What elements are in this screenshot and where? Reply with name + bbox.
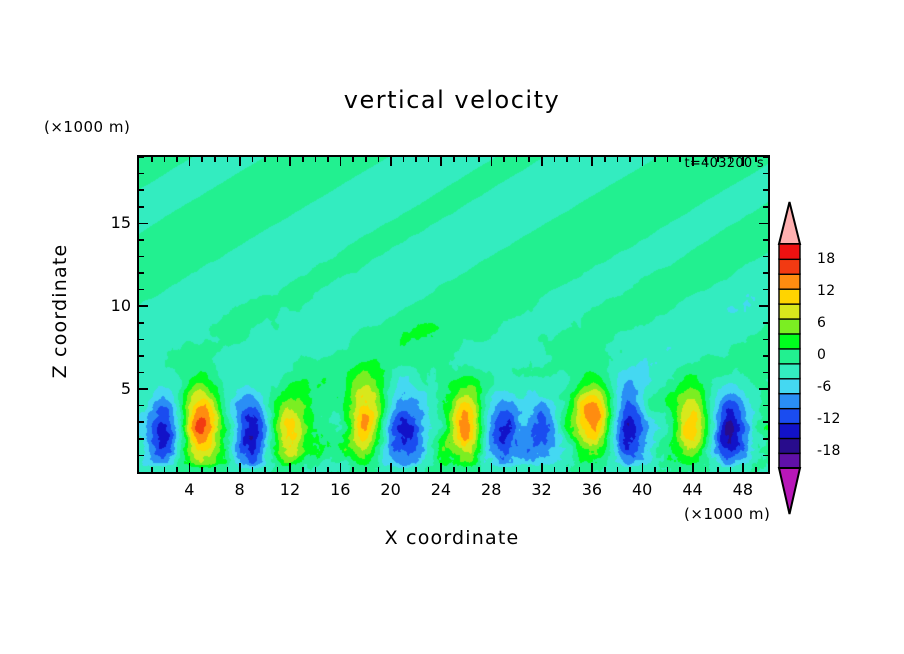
axis-tick [415, 467, 417, 472]
axis-tick [554, 157, 556, 162]
x-tick-label: 24 [421, 480, 461, 499]
axis-tick [667, 467, 669, 472]
axis-tick [541, 157, 543, 166]
axis-tick [315, 157, 317, 162]
x-tick-label: 20 [371, 480, 411, 499]
axis-tick [139, 189, 144, 191]
axis-tick [679, 157, 681, 162]
axis-tick [139, 206, 144, 208]
axis-tick [453, 467, 455, 472]
y-axis-title: Z coordinate [49, 211, 71, 411]
colorbar-tick-label: 18 [817, 251, 835, 267]
axis-tick [289, 157, 291, 166]
axis-tick [717, 467, 719, 472]
axis-tick [315, 467, 317, 472]
axis-tick [264, 157, 266, 162]
axis-tick [692, 463, 694, 472]
axis-tick [763, 372, 768, 374]
axis-tick [763, 405, 768, 407]
axis-tick [579, 157, 581, 162]
x-tick-label: 32 [522, 480, 562, 499]
axis-tick [730, 467, 732, 472]
axis-tick [139, 339, 144, 341]
axis-tick [352, 467, 354, 472]
axis-tick [491, 157, 493, 166]
axis-tick [378, 467, 380, 472]
axis-tick [302, 467, 304, 472]
axis-tick [201, 467, 203, 472]
axis-tick [763, 438, 768, 440]
axis-tick [604, 467, 606, 472]
axis-tick [164, 467, 166, 472]
axis-tick [705, 467, 707, 472]
x-tick-label: 28 [471, 480, 511, 499]
axis-tick [759, 223, 768, 225]
axis-tick [365, 157, 367, 162]
axis-tick [759, 305, 768, 307]
axis-tick [227, 157, 229, 162]
axis-tick [264, 467, 266, 472]
axis-tick [139, 421, 144, 423]
axis-tick [629, 467, 631, 472]
axis-tick [415, 157, 417, 162]
axis-tick [227, 467, 229, 472]
colorbar-tick-label: -18 [817, 443, 841, 459]
axis-tick [566, 467, 568, 472]
axis-tick [139, 355, 144, 357]
colorbar-tick-label: 12 [817, 283, 835, 299]
axis-tick [591, 463, 593, 472]
axis-tick [139, 372, 144, 374]
axis-tick [466, 467, 468, 472]
axis-tick [591, 157, 593, 166]
colorbar-tick-label: -12 [817, 411, 841, 427]
axis-tick [277, 157, 279, 162]
time-annotation: t=403200 s [684, 156, 764, 171]
axis-tick [139, 256, 144, 258]
axis-tick [491, 463, 493, 472]
axis-tick [139, 272, 144, 274]
x-tick-label: 12 [270, 480, 310, 499]
colorbar-swatches [775, 196, 815, 526]
axis-tick [763, 322, 768, 324]
axis-tick [679, 467, 681, 472]
axis-tick [164, 157, 166, 162]
axis-tick [139, 173, 144, 175]
axis-tick [139, 438, 144, 440]
axis-tick [390, 463, 392, 472]
axis-tick [503, 467, 505, 472]
axis-tick [566, 157, 568, 162]
axis-tick [654, 157, 656, 162]
contour-plot-area[interactable]: t=403200 s [137, 155, 770, 474]
axis-tick [340, 157, 342, 166]
x-axis-title: X coordinate [0, 527, 904, 549]
axis-tick [390, 157, 392, 166]
axis-tick [579, 467, 581, 472]
axis-tick [440, 463, 442, 472]
axis-tick [478, 467, 480, 472]
axis-tick [139, 289, 144, 291]
axis-tick [327, 467, 329, 472]
axis-tick [277, 467, 279, 472]
axis-tick [516, 467, 518, 472]
x-tick-label: 4 [169, 480, 209, 499]
axis-tick [289, 463, 291, 472]
axis-tick [214, 467, 216, 472]
axis-tick [189, 157, 191, 166]
axis-tick [139, 388, 148, 390]
axis-tick [139, 239, 144, 241]
axis-tick [453, 157, 455, 162]
axis-tick [554, 467, 556, 472]
axis-tick [139, 156, 144, 158]
axis-tick [139, 455, 144, 457]
axis-tick [302, 157, 304, 162]
axis-tick [466, 157, 468, 162]
axis-tick [629, 157, 631, 162]
axis-tick [478, 157, 480, 162]
axis-tick [327, 157, 329, 162]
axis-tick [763, 189, 768, 191]
y-tick-label: 5 [97, 379, 131, 398]
axis-tick [151, 467, 153, 472]
axis-tick [528, 467, 530, 472]
axis-tick [755, 467, 757, 472]
axis-tick [763, 272, 768, 274]
axis-tick [252, 467, 254, 472]
axis-tick [378, 157, 380, 162]
axis-tick [352, 157, 354, 162]
axis-tick [742, 463, 744, 472]
axis-tick [176, 467, 178, 472]
axis-tick [365, 467, 367, 472]
axis-tick [763, 455, 768, 457]
axis-tick [528, 157, 530, 162]
x-tick-label: 40 [622, 480, 662, 499]
vertical-velocity-field [139, 157, 768, 472]
axis-tick [654, 467, 656, 472]
page-title: vertical velocity [0, 86, 904, 114]
x-tick-label: 44 [673, 480, 713, 499]
axis-tick [763, 355, 768, 357]
axis-tick [428, 157, 430, 162]
x-tick-label: 8 [220, 480, 260, 499]
axis-tick [176, 157, 178, 162]
axis-tick [763, 256, 768, 258]
colorbar[interactable]: 181260-6-12-18 [775, 196, 895, 526]
axis-tick [151, 157, 153, 162]
y-tick-label: 10 [97, 296, 131, 315]
axis-tick [239, 463, 241, 472]
axis-tick [139, 405, 144, 407]
x-tick-label: 36 [572, 480, 612, 499]
axis-tick [604, 157, 606, 162]
axis-tick [763, 289, 768, 291]
axis-tick [642, 157, 644, 166]
axis-tick [139, 223, 148, 225]
axis-tick [201, 157, 203, 162]
axis-tick [252, 157, 254, 162]
x-tick-label: 16 [320, 480, 360, 499]
colorbar-tick-label: 6 [817, 315, 826, 331]
axis-tick [763, 239, 768, 241]
axis-tick [239, 157, 241, 166]
axis-tick [617, 467, 619, 472]
axis-tick [667, 157, 669, 162]
axis-tick [763, 421, 768, 423]
axis-tick [763, 339, 768, 341]
colorbar-tick-label: 0 [817, 347, 826, 363]
axis-tick [516, 157, 518, 162]
axis-tick [440, 157, 442, 166]
axis-tick [403, 157, 405, 162]
y-tick-label: 15 [97, 213, 131, 232]
axis-tick [189, 463, 191, 472]
axis-tick [763, 206, 768, 208]
axis-tick [763, 173, 768, 175]
z-axis-unit-label: (×1000 m) [44, 118, 130, 136]
axis-tick [617, 157, 619, 162]
colorbar-tick-label: -6 [817, 379, 832, 395]
axis-tick [642, 463, 644, 472]
axis-tick [214, 157, 216, 162]
axis-tick [340, 463, 342, 472]
axis-tick [139, 322, 144, 324]
axis-tick [139, 305, 148, 307]
axis-tick [403, 467, 405, 472]
x-axis-unit-label: (×1000 m) [684, 505, 770, 523]
axis-tick [759, 388, 768, 390]
axis-tick [428, 467, 430, 472]
axis-tick [541, 463, 543, 472]
x-tick-label: 48 [723, 480, 763, 499]
axis-tick [503, 157, 505, 162]
